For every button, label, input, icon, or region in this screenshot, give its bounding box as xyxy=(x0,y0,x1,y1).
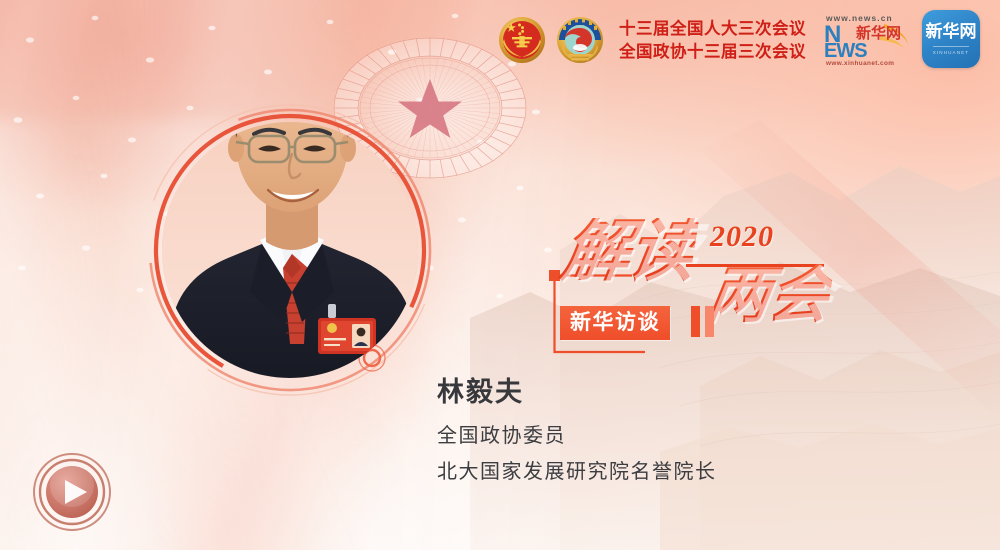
conference-header: 1949 十三届全国人大三次会议 全国政协十三届三次会议 xyxy=(497,4,806,76)
guest-organization: 北大国家发展研究院名誉院长 xyxy=(437,460,907,482)
news-cn-bottom-url: www.xinhuanet.com xyxy=(825,60,894,67)
conference-title-line-2: 全国政协十三届三次会议 xyxy=(619,40,806,63)
badge-accent-bars xyxy=(691,306,714,337)
title-jiedu: 解读 xyxy=(557,218,700,286)
program-title-lockup: 解读 2020 两会 新华访谈 xyxy=(540,222,860,367)
portrait-block xyxy=(145,75,435,435)
xinhuanet-app-logo[interactable]: 新华网 XINHUANET xyxy=(922,10,980,68)
guest-role: 全国政协委员 xyxy=(437,424,907,446)
person-photo-illustration xyxy=(162,122,418,378)
guest-info: 林毅夫 全国政协委员 北大国家发展研究院名誉院长 xyxy=(437,378,907,482)
title-lianghui: 两会 xyxy=(703,264,835,326)
national-emblem-of-china-icon xyxy=(497,15,547,65)
news-cn-logo[interactable]: www.news.cn N 新华网 EWS www.xinhuanet.com xyxy=(822,10,914,68)
title-year: 2020 xyxy=(710,220,774,254)
app-logo-pinyin: XINHUANET xyxy=(933,46,969,55)
play-button[interactable] xyxy=(32,452,112,532)
conference-title-block: 十三届全国人大三次会议 全国政协十三届三次会议 xyxy=(619,17,806,64)
app-logo-chinese-name: 新华网 xyxy=(926,24,977,41)
cppcc-emblem-icon: 1949 xyxy=(555,15,605,65)
xinhua-interview-badge: 新华访谈 xyxy=(560,306,670,340)
news-cn-letters-ews: EWS xyxy=(824,40,867,62)
portrait-photo xyxy=(162,122,418,378)
guest-name: 林毅夫 xyxy=(437,378,907,408)
interview-banner: 1949 十三届全国人大三次会议 全国政协十三届三次会议 www.news.cn… xyxy=(0,0,1000,550)
conference-title-line-1: 十三届全国人大三次会议 xyxy=(619,17,806,40)
